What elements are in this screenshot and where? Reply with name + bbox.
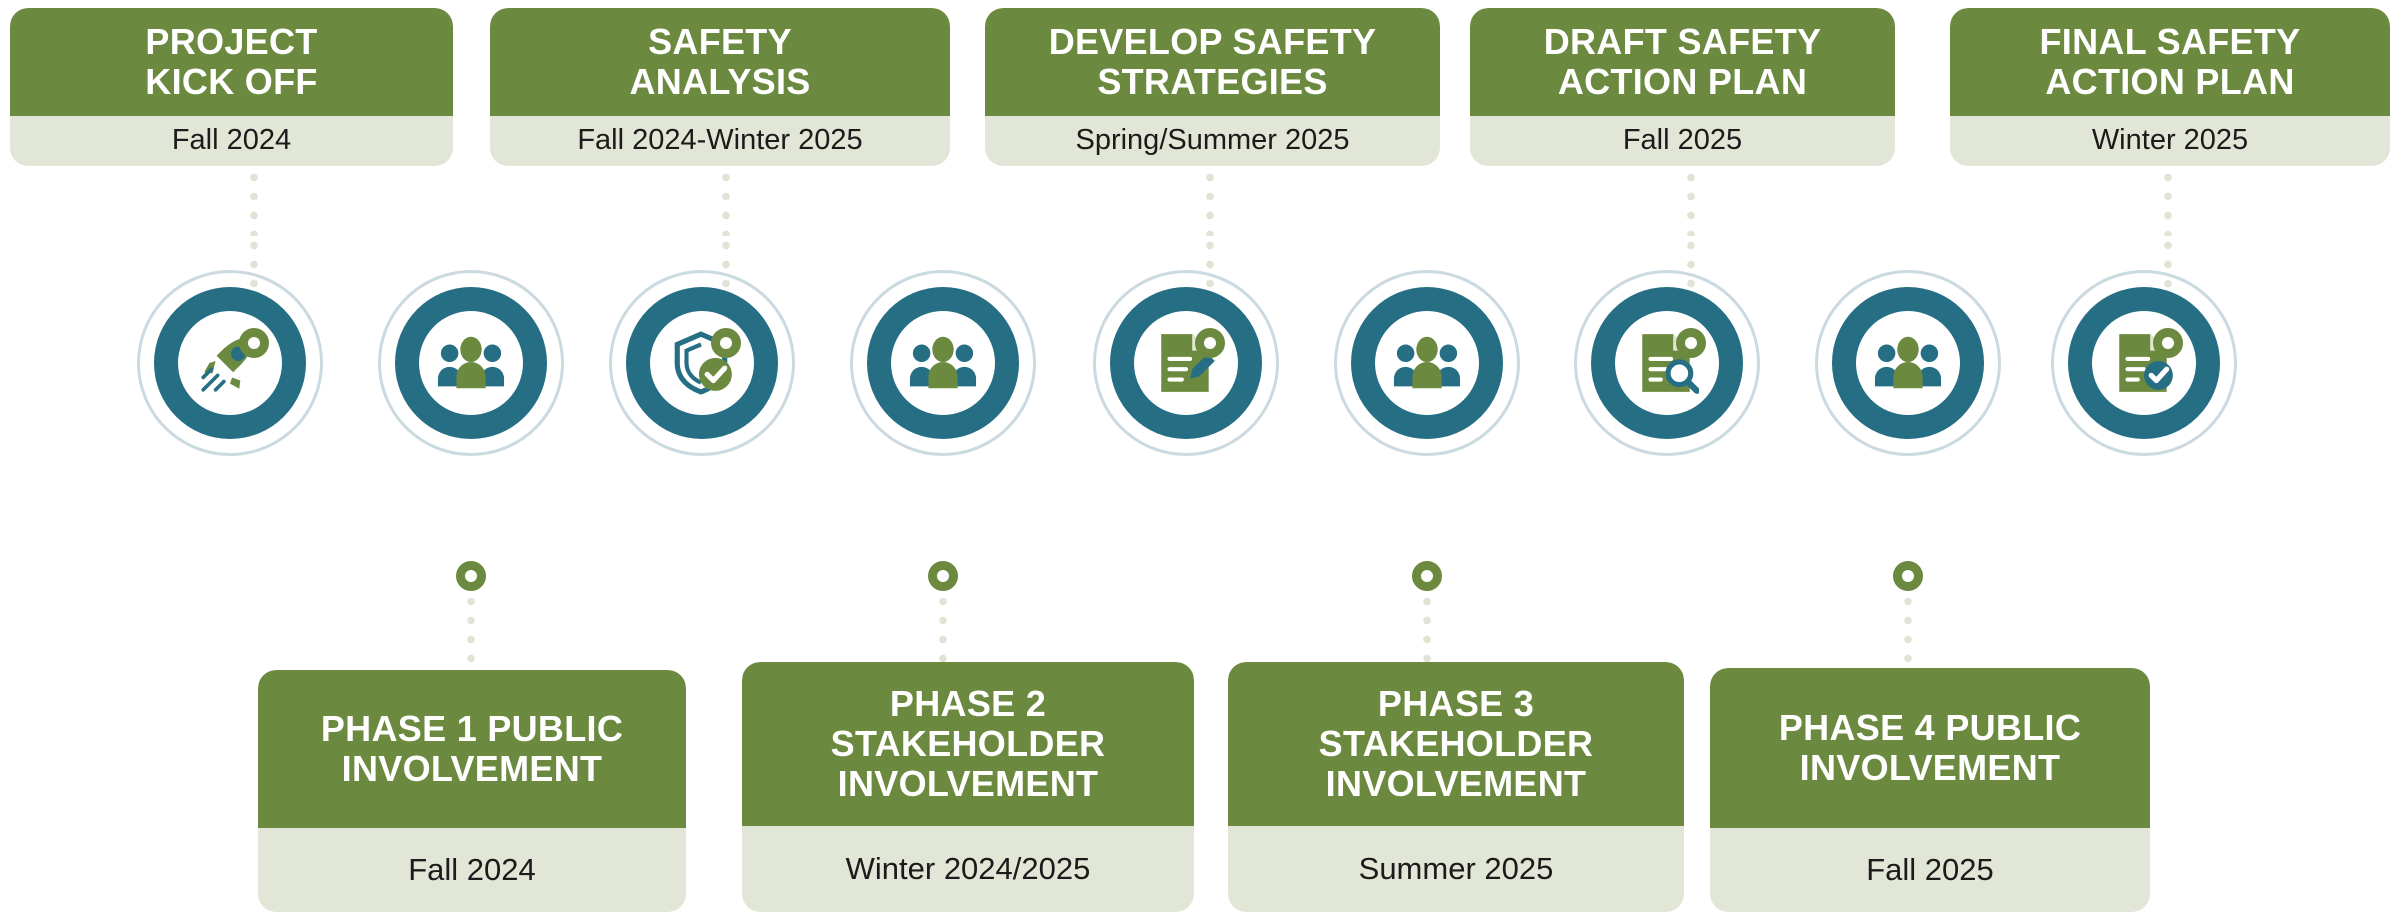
milestone-title-line2: ANALYSIS: [629, 61, 810, 102]
phase-title-line1: PHASE 1 PUBLIC: [321, 708, 623, 749]
phase-title-line2: STAKEHOLDER: [831, 723, 1106, 764]
node-circle-document-check[interactable]: [2068, 287, 2220, 439]
phase-card-date: Summer 2025: [1228, 826, 1684, 912]
node-inner: [891, 311, 995, 415]
phase-card-phase-4-public-involvement[interactable]: PHASE 4 PUBLIC INVOLVEMENT Fall 2025: [1710, 668, 2150, 912]
phase-card-date: Fall 2025: [1710, 828, 2150, 912]
phase-title-line2: INVOLVEMENT: [1800, 747, 2061, 788]
milestone-card-date: Fall 2024: [10, 116, 453, 166]
people-group-icon: [1392, 330, 1462, 396]
node-inner: [2092, 311, 2196, 415]
phase-title-line1: PHASE 3: [1378, 683, 1534, 724]
milestone-card-date: Fall 2024-Winter 2025: [490, 116, 950, 166]
connector-ring-top-4: [1676, 328, 1706, 358]
phase-card-title: PHASE 1 PUBLIC INVOLVEMENT: [258, 670, 686, 828]
node-circle-people-3[interactable]: [1351, 287, 1503, 439]
connector-dots-bottom-4: [1903, 592, 1913, 672]
node-inner: [1134, 311, 1238, 415]
milestone-title-line2: ACTION PLAN: [2045, 61, 2294, 102]
phase-title-line1: PHASE 4 PUBLIC: [1779, 707, 2081, 748]
phase-card-phase-1-public-involvement[interactable]: PHASE 1 PUBLIC INVOLVEMENT Fall 2024: [258, 670, 686, 912]
milestone-title-line1: FINAL SAFETY: [2040, 21, 2301, 62]
phase-card-title: PHASE 3 STAKEHOLDER INVOLVEMENT: [1228, 662, 1684, 826]
people-group-icon: [908, 330, 978, 396]
milestone-card-develop-safety-strategies[interactable]: DEVELOP SAFETY STRATEGIES Spring/Summer …: [985, 8, 1440, 166]
milestone-card-title: FINAL SAFETY ACTION PLAN: [1950, 8, 2390, 116]
milestone-card-title: SAFETY ANALYSIS: [490, 8, 950, 116]
connector-dots-bottom-1: [466, 592, 476, 672]
connector-ring-bottom-3: [1412, 561, 1442, 591]
phase-card-title: PHASE 4 PUBLIC INVOLVEMENT: [1710, 668, 2150, 828]
node-circle-people-4[interactable]: [1832, 287, 1984, 439]
milestone-title-line1: SAFETY: [648, 21, 792, 62]
milestone-title-line1: DRAFT SAFETY: [1544, 21, 1822, 62]
phase-card-date: Winter 2024/2025: [742, 826, 1194, 912]
milestone-card-draft-safety-action-plan[interactable]: DRAFT SAFETY ACTION PLAN Fall 2025: [1470, 8, 1895, 166]
connector-dots-top-5: [2163, 168, 2173, 236]
phase-title-line2: INVOLVEMENT: [342, 748, 603, 789]
phase-title-line3: INVOLVEMENT: [838, 763, 1099, 804]
node-inner: [178, 311, 282, 415]
connector-ring-top-2: [711, 328, 741, 358]
node-inner: [1375, 311, 1479, 415]
milestone-title-line2: ACTION PLAN: [1558, 61, 1807, 102]
phase-title-line3: INVOLVEMENT: [1326, 763, 1587, 804]
people-group-icon: [1873, 330, 1943, 396]
node-circle-rocket[interactable]: [154, 287, 306, 439]
phase-card-title: PHASE 2 STAKEHOLDER INVOLVEMENT: [742, 662, 1194, 826]
connector-ring-top-5: [2153, 328, 2183, 358]
milestone-card-title: DRAFT SAFETY ACTION PLAN: [1470, 8, 1895, 116]
milestone-card-date: Fall 2025: [1470, 116, 1895, 166]
milestone-card-title: DEVELOP SAFETY STRATEGIES: [985, 8, 1440, 116]
node-circle-shield-check[interactable]: [626, 287, 778, 439]
connector-ring-bottom-1: [456, 561, 486, 591]
phase-title-line2: STAKEHOLDER: [1319, 723, 1594, 764]
phase-card-phase-2-stakeholder-involvement[interactable]: PHASE 2 STAKEHOLDER INVOLVEMENT Winter 2…: [742, 662, 1194, 912]
node-circle-people-2[interactable]: [867, 287, 1019, 439]
phase-card-phase-3-stakeholder-involvement[interactable]: PHASE 3 STAKEHOLDER INVOLVEMENT Summer 2…: [1228, 662, 1684, 912]
node-inner: [1615, 311, 1719, 415]
connector-dots-bottom-3: [1422, 592, 1432, 672]
phase-card-date: Fall 2024: [258, 828, 686, 912]
milestone-card-date: Spring/Summer 2025: [985, 116, 1440, 166]
connector-dots-top-4: [1686, 168, 1696, 236]
connector-dots-top-3: [1205, 168, 1215, 236]
connector-ring-top-3: [1195, 328, 1225, 358]
node-inner: [1856, 311, 1960, 415]
milestone-card-final-safety-action-plan[interactable]: FINAL SAFETY ACTION PLAN Winter 2025: [1950, 8, 2390, 166]
milestone-card-title: PROJECT KICK OFF: [10, 8, 453, 116]
node-circle-document-search[interactable]: [1591, 287, 1743, 439]
connector-ring-bottom-4: [1893, 561, 1923, 591]
connector-ring-bottom-2: [928, 561, 958, 591]
connector-dots-bottom-2: [938, 592, 948, 672]
people-group-icon: [436, 330, 506, 396]
milestone-title-line1: DEVELOP SAFETY: [1049, 21, 1377, 62]
node-circle-people-1[interactable]: [395, 287, 547, 439]
milestone-title-line2: KICK OFF: [145, 61, 317, 102]
connector-ring-top-1: [239, 328, 269, 358]
milestone-card-safety-analysis[interactable]: SAFETY ANALYSIS Fall 2024-Winter 2025: [490, 8, 950, 166]
connector-dots-top-2: [721, 168, 731, 236]
node-inner: [419, 311, 523, 415]
milestone-title-line2: STRATEGIES: [1097, 61, 1327, 102]
milestone-title-line1: PROJECT: [145, 21, 317, 62]
timeline-infographic: PROJECT KICK OFF Fall 2024 SAFETY ANALYS…: [0, 0, 2400, 921]
phase-title-line1: PHASE 2: [890, 683, 1046, 724]
milestone-card-date: Winter 2025: [1950, 116, 2390, 166]
connector-dots-top-1: [249, 168, 259, 236]
node-inner: [650, 311, 754, 415]
node-circle-document-pencil[interactable]: [1110, 287, 1262, 439]
milestone-card-project-kick-off[interactable]: PROJECT KICK OFF Fall 2024: [10, 8, 453, 166]
